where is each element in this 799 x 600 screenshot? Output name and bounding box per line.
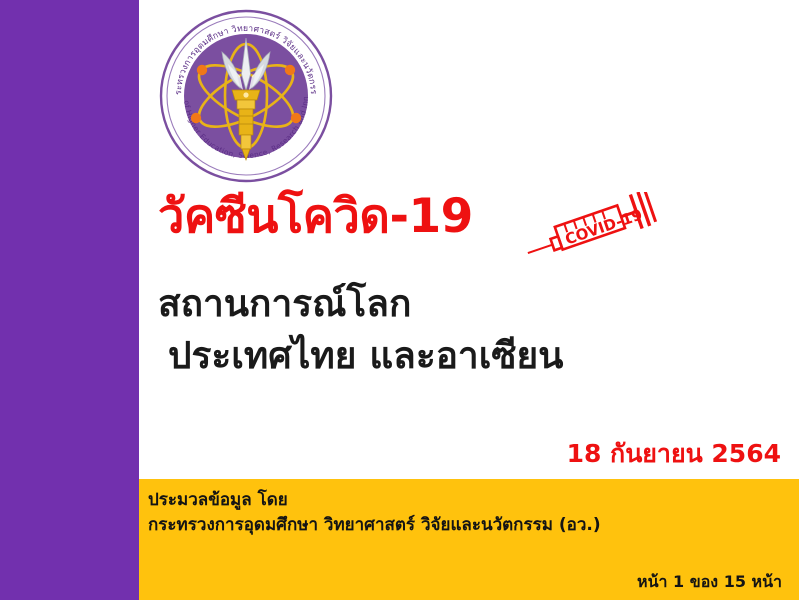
syringe-icon: COVID-19 xyxy=(518,192,658,258)
credit-line-1: ประมวลข้อมูล โดย xyxy=(148,488,768,513)
subtitle-line-2: ประเทศไทย และอาเซียน xyxy=(158,330,758,382)
credit-block: ประมวลข้อมูล โดย กระทรวงการอุดมศึกษา วิท… xyxy=(148,488,768,538)
page-title: วัคซีนโควิด-19 xyxy=(158,186,473,248)
left-purple-band xyxy=(0,0,139,600)
credit-line-2: กระทรวงการอุดมศึกษา วิทยาศาสตร์ วิจัยและ… xyxy=(148,513,768,538)
page-number: หน้า 1 ของ 15 หน้า xyxy=(637,570,782,595)
ministry-logo: กระทรวงการอุดมศึกษา วิทยาศาสตร์ วิจัยและ… xyxy=(158,8,334,184)
title-row: วัคซีนโควิด-19 xyxy=(158,186,778,258)
syringe-label: COVID-19 xyxy=(563,205,645,248)
subtitle-line-1: สถานการณ์โลก xyxy=(158,278,758,330)
presentation-slide: กระทรวงการอุดมศึกษา วิทยาศาสตร์ วิจัยและ… xyxy=(0,0,799,600)
subtitle-block: สถานการณ์โลก ประเทศไทย และอาเซียน xyxy=(158,278,758,382)
publication-date: 18 กันยายน 2564 xyxy=(567,434,781,474)
